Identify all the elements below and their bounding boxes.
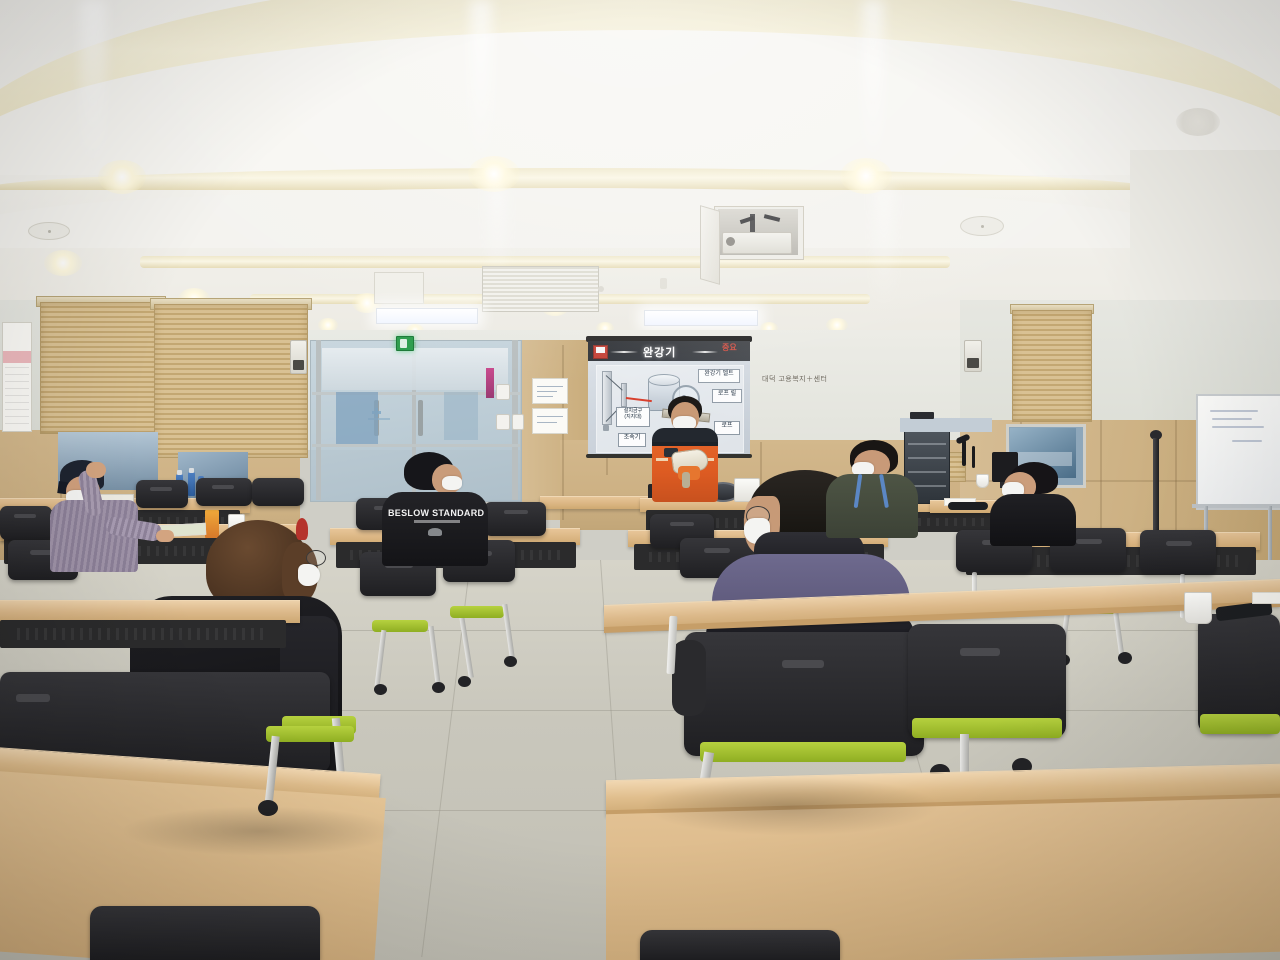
chair[interactable] <box>252 478 304 506</box>
chair[interactable] <box>90 906 320 960</box>
panel-light <box>644 310 758 326</box>
emergency-exit-sign <box>396 336 414 351</box>
jacket-emblem-icon <box>428 528 442 536</box>
person-attendee-beslow: BESLOW STANDARD <box>376 452 496 562</box>
wall-center-sign: 대덕 고용복지＋센터 <box>762 374 827 384</box>
light-switch[interactable] <box>496 414 510 430</box>
chair[interactable] <box>1140 530 1216 574</box>
paper-cup <box>976 474 989 488</box>
ac-vent <box>482 266 599 312</box>
chair[interactable] <box>196 478 252 506</box>
classroom-photo: 완강기 중요 <box>0 0 1280 960</box>
wall-speaker-icon <box>964 340 982 372</box>
person-attendee-right <box>990 462 1082 544</box>
keyboard[interactable] <box>948 502 988 510</box>
light-switch[interactable] <box>496 384 510 400</box>
ceiling <box>0 0 1280 345</box>
torso <box>826 474 918 538</box>
microphone <box>972 446 975 468</box>
chair[interactable] <box>640 930 840 960</box>
water-bottle <box>188 472 195 496</box>
desk-panel <box>0 620 286 648</box>
wall-notice <box>532 408 568 434</box>
decor-object <box>296 518 308 540</box>
chair-seat[interactable] <box>1200 714 1280 734</box>
face-mask <box>442 476 462 490</box>
torso <box>990 494 1076 546</box>
downlight <box>1176 108 1220 136</box>
downlight <box>44 250 82 276</box>
window-blinds[interactable] <box>40 302 162 434</box>
paper-cup <box>1184 592 1212 624</box>
sprinkler-icon <box>598 286 604 292</box>
ceiling-speaker-icon <box>960 216 1004 236</box>
person-attendee-olive <box>826 440 926 538</box>
window-blinds[interactable] <box>1012 310 1092 422</box>
microphone <box>962 440 966 466</box>
wall-speaker-icon <box>290 340 307 374</box>
whiteboard <box>1196 394 1280 510</box>
chair-seat[interactable] <box>700 742 906 762</box>
ceiling-access-panel <box>374 272 424 304</box>
window-blinds[interactable] <box>154 304 308 458</box>
jacket-text: BESLOW STANDARD <box>388 508 482 518</box>
chair-seat[interactable] <box>450 606 504 618</box>
wall-calendar <box>2 322 32 432</box>
hand <box>86 462 106 478</box>
door-handle[interactable] <box>418 400 423 436</box>
wall-banner <box>486 368 494 398</box>
ceiling-speaker-icon <box>28 222 70 240</box>
panel-light <box>376 308 478 324</box>
chair-seat[interactable] <box>912 718 1062 738</box>
projector-lift-housing <box>700 206 802 278</box>
chair[interactable] <box>684 632 924 756</box>
wall-notice <box>532 378 568 404</box>
light-switch[interactable] <box>512 414 524 430</box>
sprinkler-icon <box>660 278 667 289</box>
face-mask <box>298 564 320 586</box>
paper <box>1252 592 1280 604</box>
chair[interactable] <box>0 506 52 540</box>
